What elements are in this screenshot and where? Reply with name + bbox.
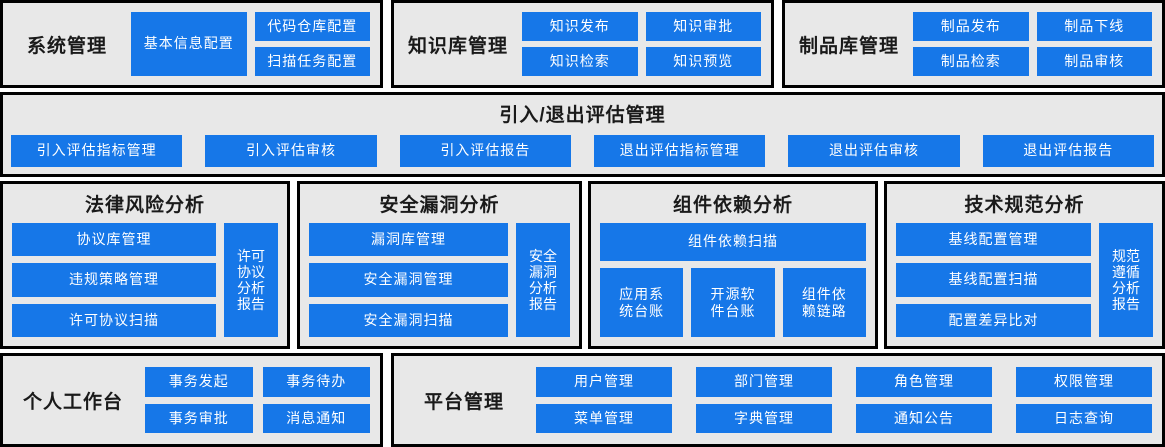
report-line-2: 漏洞 (529, 264, 557, 280)
button-artifact-offline[interactable]: 制品下线 (1037, 12, 1153, 41)
button-knowledge-publish[interactable]: 知识发布 (522, 12, 638, 41)
button-license-library-management[interactable]: 协议库管理 (12, 223, 216, 256)
button-department-management[interactable]: 部门管理 (696, 367, 832, 397)
button-exit-eval-indicator-management[interactable]: 退出评估指标管理 (594, 135, 765, 167)
button-task-initiate[interactable]: 事务发起 (145, 367, 253, 397)
button-dictionary-management[interactable]: 字典管理 (696, 404, 832, 434)
report-line-4: 报告 (529, 296, 557, 312)
button-open-source-software-ledger[interactable]: 开源软 件台账 (691, 268, 774, 337)
button-security-vulnerability-analysis-report[interactable]: 安全 漏洞 分析 报告 (516, 223, 570, 337)
button-license-agreement-scan[interactable]: 许可协议扫描 (12, 304, 216, 337)
button-artifact-publish[interactable]: 制品发布 (913, 12, 1029, 41)
button-line-1: 应用系 (619, 286, 664, 303)
panel-platform-management: 平台管理 用户管理 部门管理 角色管理 权限管理 菜单管理 字典管理 通知公告 … (391, 353, 1165, 447)
report-line-2: 协议 (237, 264, 265, 280)
button-application-system-ledger[interactable]: 应用系 统台账 (600, 268, 683, 337)
panel-knowledge-base-management: 知识库管理 知识发布 知识审批 知识检索 知识预览 (391, 0, 774, 88)
button-task-todo[interactable]: 事务待办 (263, 367, 371, 397)
button-baseline-config-scan[interactable]: 基线配置扫描 (896, 263, 1091, 296)
button-baseline-config-management[interactable]: 基线配置管理 (896, 223, 1091, 256)
button-vulnerability-library-management[interactable]: 漏洞库管理 (309, 223, 508, 256)
button-basic-info-config[interactable]: 基本信息配置 (131, 12, 247, 76)
button-artifact-review[interactable]: 制品审核 (1037, 47, 1153, 76)
panel-title-security-vulnerability-analysis: 安全漏洞分析 (309, 190, 570, 217)
panel-title-legal-risk-analysis: 法律风险分析 (12, 190, 278, 217)
button-notification-announcement[interactable]: 通知公告 (856, 404, 992, 434)
button-line-2: 统台账 (619, 303, 664, 320)
panel-title-artifact-repository-management: 制品库管理 (795, 31, 903, 58)
button-user-management[interactable]: 用户管理 (536, 367, 672, 397)
button-line-2: 赖链路 (802, 303, 847, 320)
button-license-analysis-report[interactable]: 许可 协议 分析 报告 (224, 223, 278, 337)
button-permission-management[interactable]: 权限管理 (1016, 367, 1152, 397)
button-entry-eval-indicator-management[interactable]: 引入评估指标管理 (11, 135, 182, 167)
button-config-difference-comparison[interactable]: 配置差异比对 (896, 304, 1091, 337)
button-exit-eval-review[interactable]: 退出评估审核 (788, 135, 959, 167)
panel-security-vulnerability-analysis: 安全漏洞分析 漏洞库管理 安全漏洞管理 安全漏洞扫描 安全 漏洞 分析 报告 (297, 181, 582, 349)
report-line-4: 报告 (237, 296, 265, 312)
report-line-1: 安全 (529, 248, 557, 264)
button-artifact-search[interactable]: 制品检索 (913, 47, 1029, 76)
button-entry-eval-report[interactable]: 引入评估报告 (400, 135, 571, 167)
button-line-1: 组件依 (802, 286, 847, 303)
report-line-3: 分析 (529, 280, 557, 296)
button-message-notification[interactable]: 消息通知 (263, 404, 371, 434)
button-security-vulnerability-scan[interactable]: 安全漏洞扫描 (309, 304, 508, 337)
panel-title-personal-workbench: 个人工作台 (13, 387, 133, 414)
report-line-3: 分析 (237, 280, 265, 296)
panel-system-management: 系统管理 基本信息配置 代码仓库配置 扫描任务配置 (0, 0, 383, 88)
report-line-1: 规范 (1112, 248, 1140, 264)
panel-title-platform-management: 平台管理 (404, 387, 524, 414)
button-role-management[interactable]: 角色管理 (856, 367, 992, 397)
button-violation-policy-management[interactable]: 违规策略管理 (12, 263, 216, 296)
button-component-dependency-chain[interactable]: 组件依 赖链路 (783, 268, 866, 337)
panel-title-technical-specification-analysis: 技术规范分析 (896, 190, 1153, 217)
button-entry-eval-review[interactable]: 引入评估审核 (205, 135, 376, 167)
panel-artifact-repository-management: 制品库管理 制品发布 制品下线 制品检索 制品审核 (782, 0, 1165, 88)
panel-personal-workbench: 个人工作台 事务发起 事务待办 事务审批 消息通知 (0, 353, 383, 447)
report-line-3: 分析 (1112, 280, 1140, 296)
report-line-4: 报告 (1112, 296, 1140, 312)
architecture-diagram-page: 系统管理 基本信息配置 代码仓库配置 扫描任务配置 知识库管理 知识发布 知识审… (0, 0, 1165, 447)
button-knowledge-approval[interactable]: 知识审批 (646, 12, 762, 41)
button-code-repo-config[interactable]: 代码仓库配置 (255, 12, 371, 41)
button-log-query[interactable]: 日志查询 (1016, 404, 1152, 434)
panel-title-system-management: 系统管理 (13, 31, 121, 58)
report-line-1: 许可 (237, 248, 265, 264)
panel-technical-specification-analysis: 技术规范分析 基线配置管理 基线配置扫描 配置差异比对 规范 遵循 分析 报告 (884, 181, 1165, 349)
button-line-2: 件台账 (710, 303, 755, 320)
button-security-vulnerability-management[interactable]: 安全漏洞管理 (309, 263, 508, 296)
panel-title-knowledge-base-management: 知识库管理 (404, 31, 512, 58)
panel-component-dependency-analysis: 组件依赖分析 组件依赖扫描 应用系 统台账 开源软 件台账 (588, 181, 878, 349)
button-scan-task-config[interactable]: 扫描任务配置 (255, 47, 371, 76)
button-knowledge-preview[interactable]: 知识预览 (646, 47, 762, 76)
report-line-2: 遵循 (1112, 264, 1140, 280)
button-menu-management[interactable]: 菜单管理 (536, 404, 672, 434)
panel-entry-exit-evaluation-management: 引入/退出评估管理 引入评估指标管理 引入评估审核 引入评估报告 退出评估指标管… (0, 92, 1165, 177)
panel-title-entry-exit-evaluation-management: 引入/退出评估管理 (3, 100, 1162, 127)
button-task-approval[interactable]: 事务审批 (145, 404, 253, 434)
button-component-dependency-scan[interactable]: 组件依赖扫描 (600, 223, 866, 261)
panel-title-component-dependency-analysis: 组件依赖分析 (600, 190, 866, 217)
button-specification-compliance-analysis-report[interactable]: 规范 遵循 分析 报告 (1099, 223, 1153, 337)
button-knowledge-search[interactable]: 知识检索 (522, 47, 638, 76)
panel-legal-risk-analysis: 法律风险分析 协议库管理 违规策略管理 许可协议扫描 许可 协议 分析 报告 (0, 181, 290, 349)
button-line-1: 开源软 (710, 286, 755, 303)
button-exit-eval-report[interactable]: 退出评估报告 (983, 135, 1154, 167)
